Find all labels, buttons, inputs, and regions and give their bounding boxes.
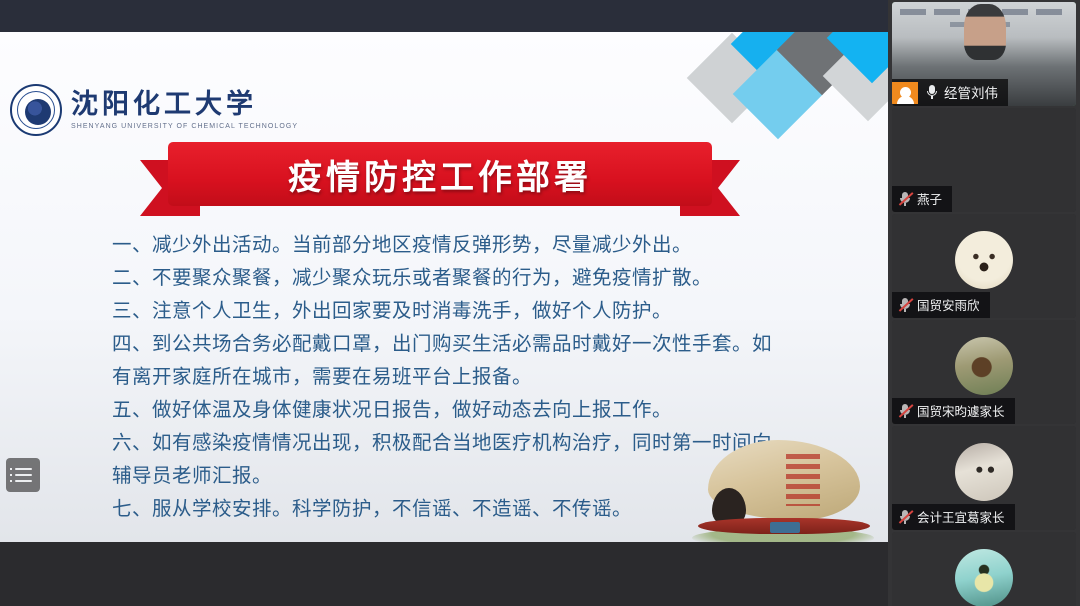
presentation-slide: 沈阳化工大学 SHENYANG UNIVERSITY OF CHEMICAL T… (0, 32, 888, 542)
participant-name: 燕子 (917, 189, 942, 208)
stone-inscription (786, 454, 820, 506)
mic-muted-icon[interactable] (898, 403, 912, 419)
slide-title-ribbon: 疫情防控工作部署 (140, 142, 740, 222)
slide-line: 四、到公共场合务必配戴口罩，出门购买生活必需品时戴好一次性手套。如 (112, 327, 802, 360)
university-name-block: 沈阳化工大学 SHENYANG UNIVERSITY OF CHEMICAL T… (71, 90, 298, 129)
participant-name-chip: 燕子 (892, 186, 952, 212)
video-person (964, 4, 1006, 60)
avatar (955, 443, 1013, 501)
campus-stone-photo (690, 434, 875, 542)
participant-name-chip: 国贸安雨欣 (892, 292, 990, 318)
slide-line: 五、做好体温及身体健康状况日报告，做好动态去向上报工作。 (112, 393, 802, 426)
list-menu-icon[interactable] (6, 458, 40, 492)
slide-line: 三、注意个人卫生，外出回家要及时消毒洗手，做好个人防护。 (112, 294, 802, 327)
slide-line: 有离开家庭所在城市，需要在易班平台上报备。 (112, 360, 802, 393)
participant-name: 经管刘伟 (944, 82, 998, 102)
participant-name-chip: 经管刘伟 (892, 79, 1008, 106)
slide-line: 二、不要聚众聚餐，减少聚众玩乐或者聚餐的行为，避免疫情扩散。 (112, 261, 802, 294)
participant-name: 会计王宜葛家长 (917, 507, 1005, 526)
participant-tile[interactable]: 会计王宜葛家长 (892, 426, 1076, 530)
avatar (955, 549, 1013, 606)
mic-muted-icon[interactable] (898, 191, 912, 207)
participant-tile[interactable]: 国贸宋昀遽家长 (892, 320, 1076, 424)
participant-filmstrip[interactable]: 经管刘伟 燕子 国贸安雨欣 (888, 0, 1080, 606)
slide-title: 疫情防控工作部署 (168, 142, 712, 206)
participant-name: 国贸安雨欣 (917, 295, 980, 314)
participant-name: 国贸宋昀遽家长 (917, 401, 1005, 420)
mic-on-icon[interactable] (925, 84, 939, 100)
participant-tile[interactable]: 经管刘伟 (892, 2, 1076, 106)
host-badge-icon (892, 82, 918, 104)
participant-name-chip: 国贸宋昀遽家长 (892, 398, 1015, 424)
slide-line: 一、减少外出活动。当前部分地区疫情反弹形势，尽量减少外出。 (112, 228, 802, 261)
meeting-window: 沈阳化工大学 SHENYANG UNIVERSITY OF CHEMICAL T… (0, 0, 1080, 606)
letterbox-bar-top (0, 0, 888, 32)
mic-muted-icon[interactable] (898, 509, 912, 525)
university-logo: 沈阳化工大学 SHENYANG UNIVERSITY OF CHEMICAL T… (10, 84, 298, 136)
shared-screen-stage[interactable]: 沈阳化工大学 SHENYANG UNIVERSITY OF CHEMICAL T… (0, 0, 888, 606)
participant-tile[interactable]: 燕子 (892, 108, 1076, 212)
stone-plaque (770, 522, 800, 533)
university-crest-icon (10, 84, 62, 136)
participant-tile[interactable]: 会计孙小伟家长 (892, 532, 1076, 606)
participant-tile[interactable]: 国贸安雨欣 (892, 214, 1076, 318)
university-name-cn: 沈阳化工大学 (71, 90, 298, 119)
participant-name-chip: 会计王宜葛家长 (892, 504, 1015, 530)
avatar (955, 231, 1013, 289)
university-name-en: SHENYANG UNIVERSITY OF CHEMICAL TECHNOLO… (71, 123, 298, 130)
mic-muted-icon[interactable] (898, 297, 912, 313)
avatar (955, 337, 1013, 395)
